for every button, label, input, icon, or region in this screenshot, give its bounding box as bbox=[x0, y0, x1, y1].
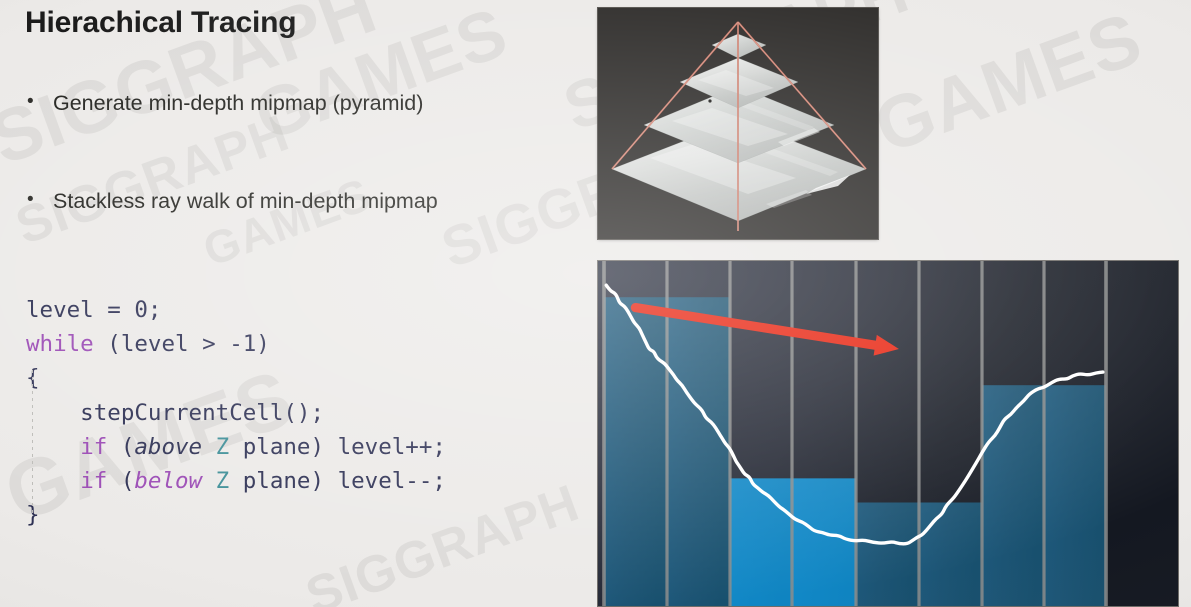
mipmap-pyramid-figure bbox=[598, 8, 878, 239]
bullet-marker-icon: • bbox=[27, 188, 53, 212]
min-depth-cell bbox=[604, 297, 667, 606]
code-token: while bbox=[26, 331, 94, 357]
min-depth-cell bbox=[856, 503, 919, 607]
watermark-text: SIGGRAPH bbox=[8, 103, 297, 257]
bullet-text: Generate min-depth mipmap (pyramid) bbox=[53, 90, 423, 117]
min-depth-cell bbox=[792, 478, 856, 606]
code-token bbox=[26, 434, 80, 460]
min-depth-cell bbox=[1044, 385, 1106, 606]
code-token bbox=[202, 468, 216, 494]
pyramid-svg bbox=[598, 8, 878, 239]
ray-walk-chart-svg bbox=[598, 261, 1178, 606]
code-token bbox=[26, 468, 80, 494]
code-token: plane) level++; bbox=[229, 434, 446, 460]
ray-walk-chart bbox=[598, 261, 1178, 606]
bullet-marker-icon: • bbox=[27, 90, 53, 114]
bullet-item-0: • Generate min-depth mipmap (pyramid) bbox=[27, 90, 423, 117]
code-token: Z bbox=[216, 468, 230, 494]
page-title: Hierachical Tracing bbox=[25, 6, 296, 40]
code-token: if bbox=[80, 468, 107, 494]
code-token: ( bbox=[107, 434, 134, 460]
code-token: plane) level--; bbox=[229, 468, 446, 494]
code-token: if bbox=[80, 434, 107, 460]
code-line: level = 0; bbox=[26, 293, 446, 327]
bullet-text: Stackless ray walk of min-depth mipmap bbox=[53, 188, 438, 215]
min-depth-cell bbox=[667, 297, 730, 606]
watermark-text: GAMES bbox=[196, 167, 378, 277]
code-line: { bbox=[26, 361, 446, 395]
code-line: if (below Z plane) level--; bbox=[26, 464, 446, 498]
code-token: above bbox=[134, 434, 202, 460]
code-token: Z bbox=[216, 434, 230, 460]
min-depth-cell bbox=[730, 478, 792, 606]
code-token bbox=[202, 434, 216, 460]
code-block: level = 0;while (level > -1){ stepCurren… bbox=[26, 293, 446, 532]
code-token: ( bbox=[107, 468, 134, 494]
indent-guide-line bbox=[32, 370, 33, 516]
min-depth-cell bbox=[982, 385, 1044, 606]
code-line: stepCurrentCell(); bbox=[26, 396, 446, 430]
watermark-text: GAMES bbox=[864, 0, 1153, 170]
code-token: (level > -1) bbox=[94, 331, 270, 357]
code-line: } bbox=[26, 498, 446, 532]
min-depth-cell bbox=[919, 503, 982, 607]
code-token: stepCurrentCell(); bbox=[26, 400, 324, 426]
code-line: while (level > -1) bbox=[26, 327, 446, 361]
code-line: if (above Z plane) level++; bbox=[26, 430, 446, 464]
slide-canvas: SIGGRAPHGAMESSIGGRAPHGAMESSIGGRAPHGAMESS… bbox=[0, 0, 1191, 607]
code-token: level = 0; bbox=[26, 297, 161, 323]
code-token: below bbox=[134, 468, 202, 494]
bullet-item-1: • Stackless ray walk of min-depth mipmap bbox=[27, 188, 438, 215]
